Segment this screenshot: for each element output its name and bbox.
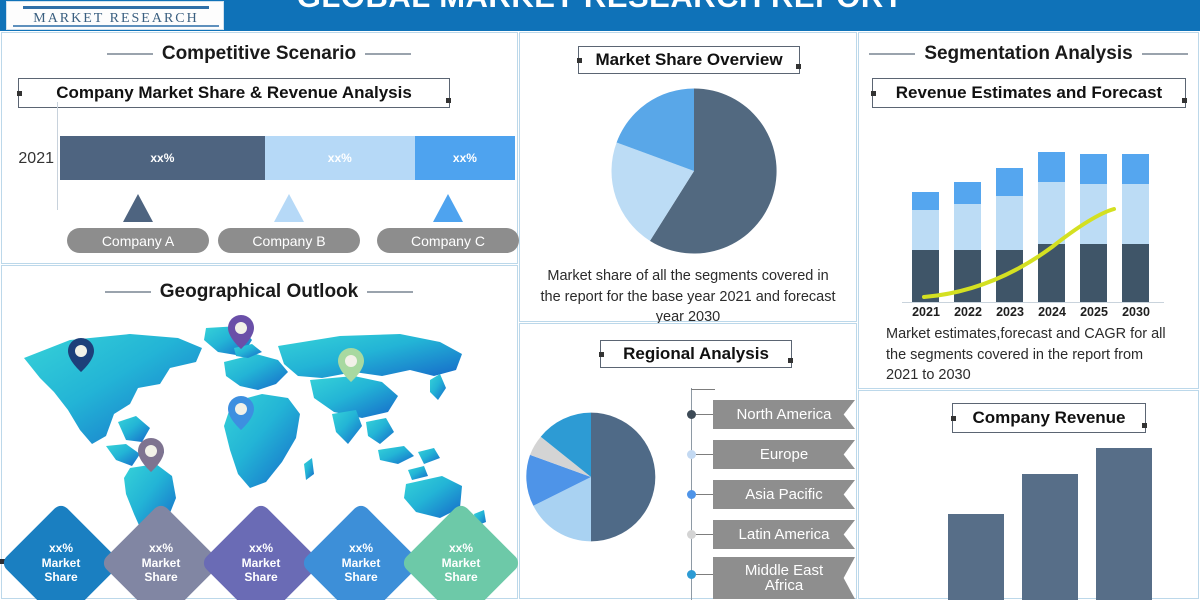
- company-revenue-title: Company Revenue: [952, 403, 1146, 433]
- market-share-badge-3[interactable]: xx% Market Share: [218, 520, 304, 600]
- badge-pct: xx%: [449, 541, 473, 556]
- regional-ribbon-europe[interactable]: Europe: [713, 440, 855, 469]
- pointer-triangle-company-b: [274, 194, 304, 222]
- regional-dot-middle-east-africa: [687, 570, 696, 579]
- competitive-stacked-bar: xx% xx% xx%: [60, 136, 515, 180]
- pie-slice-north-america: [591, 413, 655, 542]
- rule-left: [869, 53, 915, 55]
- rule-left: [105, 291, 151, 293]
- brand-logo: MARKET RESEARCH: [6, 1, 224, 30]
- badge-pct: xx%: [49, 541, 73, 556]
- company-revenue-chart: [930, 440, 1170, 600]
- year-label-2021: 2021: [906, 305, 946, 319]
- market-share-badge-4[interactable]: xx% Market Share: [318, 520, 404, 600]
- regional-dot-latin-america: [687, 530, 696, 539]
- year-label-2023: 2023: [990, 305, 1030, 319]
- badge-line1: Market: [142, 556, 181, 571]
- competitive-year-label: 2021: [8, 150, 54, 168]
- infographic-page: GLOBAL MARKET RESEARCH REPORT MARKET RES…: [0, 0, 1200, 600]
- year-label-2025: 2025: [1074, 305, 1114, 319]
- bar-segment-company-b: xx%: [265, 136, 415, 180]
- revenue-bar-2: [1022, 474, 1078, 600]
- segmentation-box-title: Revenue Estimates and Forecast: [872, 78, 1186, 108]
- badge-line2: Share: [344, 570, 377, 585]
- year-label-2022: 2022: [948, 305, 988, 319]
- map-pin-north-america[interactable]: [68, 338, 94, 372]
- competitive-axis: [57, 102, 58, 210]
- bar-segment-company-c: xx%: [415, 136, 515, 180]
- market-share-badge-5[interactable]: xx% Market Share: [418, 520, 504, 600]
- badge-pct: xx%: [349, 541, 373, 556]
- regional-analysis-pie: [524, 410, 658, 544]
- legend-pill-company-a[interactable]: Company A: [67, 228, 209, 253]
- regional-ribbon-latin-america[interactable]: Latin America: [713, 520, 855, 549]
- regional-analysis-title: Regional Analysis: [600, 340, 792, 368]
- legend-pill-company-b[interactable]: Company B: [218, 228, 360, 253]
- cagr-trend-line: [902, 125, 1164, 303]
- rule-right: [367, 291, 413, 293]
- map-pin-middle-east[interactable]: [228, 396, 254, 430]
- market-share-overview-title: Market Share Overview: [578, 46, 800, 74]
- badge-line2: Share: [244, 570, 277, 585]
- rule-left: [107, 53, 153, 55]
- market-share-overview-caption: Market share of all the segments covered…: [537, 266, 839, 328]
- segmentation-section-title: Segmentation Analysis: [858, 43, 1199, 65]
- badge-line1: Market: [42, 556, 81, 571]
- badge-pct: xx%: [149, 541, 173, 556]
- regional-ribbon-asia-pacific[interactable]: Asia Pacific: [713, 480, 855, 509]
- world-map: [10, 318, 510, 533]
- market-share-badge-row: xx% Market Share xx% Market Share xx% Ma…: [4, 527, 516, 599]
- rule-right: [365, 53, 411, 55]
- badge-line2: Share: [144, 570, 177, 585]
- badge-line2: Share: [44, 570, 77, 585]
- year-label-2024: 2024: [1032, 305, 1072, 319]
- competitive-section-title: Competitive Scenario: [0, 43, 518, 65]
- revenue-bar-1: [948, 514, 1004, 600]
- market-share-overview-pie: [608, 85, 780, 257]
- market-share-badge-1[interactable]: xx% Market Share: [18, 520, 104, 600]
- regional-spine-top: [691, 389, 715, 390]
- regional-dot-north-america: [687, 410, 696, 419]
- segmentation-year-axis: 2021 2022 2023 2024 2025 2030: [902, 305, 1164, 321]
- map-pin-europe[interactable]: [228, 315, 254, 349]
- logo-rule-top: [23, 6, 209, 9]
- badge-line2: Share: [444, 570, 477, 585]
- geographical-section-title: Geographical Outlook: [0, 281, 518, 303]
- regional-ribbon-middle-east-africa[interactable]: Middle East Africa: [713, 557, 855, 599]
- revenue-bar-3: [1096, 448, 1152, 600]
- pointer-triangle-company-c: [433, 194, 463, 222]
- map-pin-south-america[interactable]: [138, 438, 164, 472]
- competitive-box-title: Company Market Share & Revenue Analysis: [18, 78, 450, 108]
- year-label-2030: 2030: [1116, 305, 1156, 319]
- pointer-triangle-company-a: [123, 194, 153, 222]
- rule-right: [1142, 53, 1188, 55]
- regional-dot-europe: [687, 450, 696, 459]
- badge-line1: Market: [242, 556, 281, 571]
- badge-line1: Market: [442, 556, 481, 571]
- bar-segment-company-a: xx%: [60, 136, 265, 180]
- legend-pill-company-c[interactable]: Company C: [377, 228, 519, 253]
- market-share-badge-2[interactable]: xx% Market Share: [118, 520, 204, 600]
- segmentation-caption: Market estimates,forecast and CAGR for a…: [886, 324, 1172, 386]
- logo-rule-bottom: [13, 25, 219, 27]
- regional-ribbon-north-america[interactable]: North America: [713, 400, 855, 429]
- regional-dot-asia-pacific: [687, 490, 696, 499]
- map-pin-asia-pacific[interactable]: [338, 348, 364, 382]
- badge-pct: xx%: [249, 541, 273, 556]
- segmentation-bar-chart: [902, 125, 1164, 303]
- badge-line1: Market: [342, 556, 381, 571]
